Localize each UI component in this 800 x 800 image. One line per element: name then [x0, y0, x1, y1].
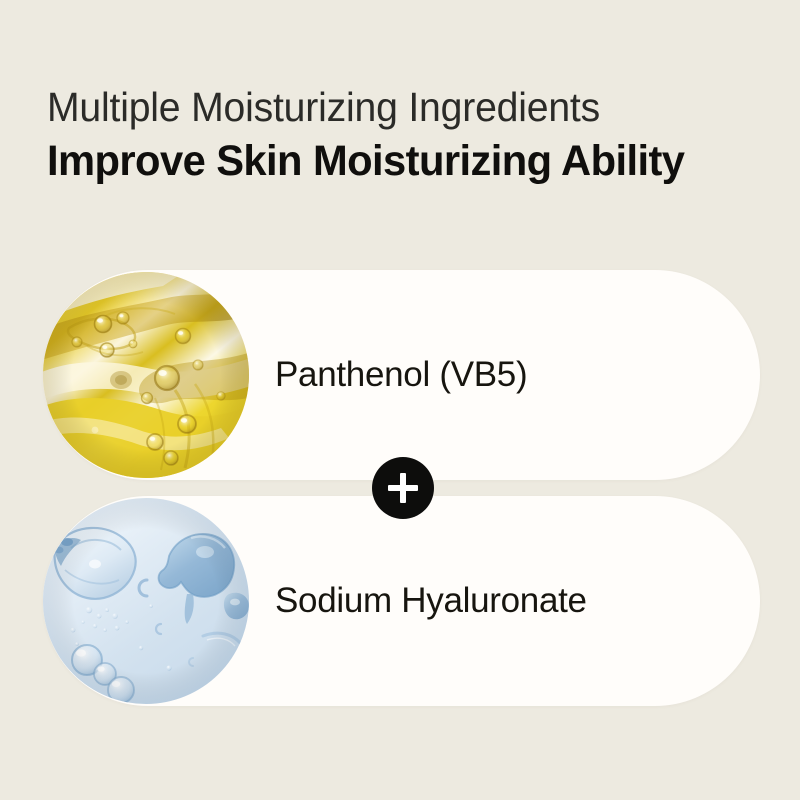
blue-gel-texture-swatch	[43, 498, 249, 704]
plus-combiner-badge	[372, 457, 434, 519]
ingredient-label-sodium-hyaluronate: Sodium Hyaluronate	[275, 496, 587, 706]
ingredient-card-panthenol[interactable]: Panthenol (VB5)	[43, 270, 760, 480]
headline-line-2: Improve Skin Moisturizing Ability	[47, 134, 745, 188]
plus-icon-vertical-bar	[400, 473, 406, 503]
headline-line-1: Multiple Moisturizing Ingredients	[47, 82, 735, 132]
ingredient-card-sodium-hyaluronate[interactable]: Sodium Hyaluronate	[43, 496, 760, 706]
ingredient-label-panthenol: Panthenol (VB5)	[275, 270, 527, 480]
page-headline: Multiple Moisturizing Ingredients Improv…	[47, 82, 767, 188]
golden-oil-texture-swatch	[43, 272, 249, 478]
